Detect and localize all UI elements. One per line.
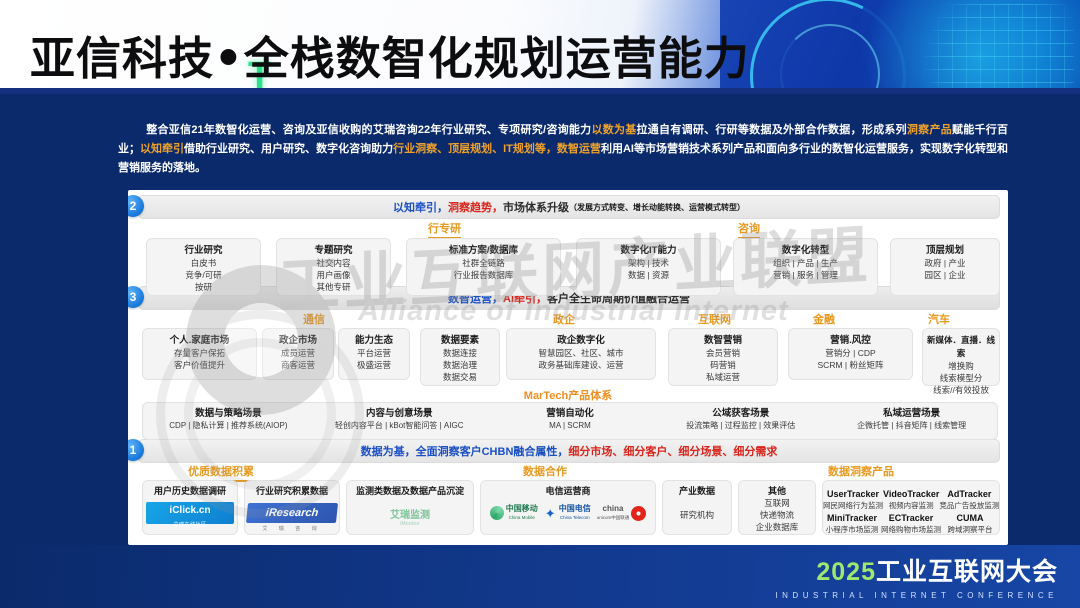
china-mobile-sub: China Mobile (506, 513, 538, 522)
tracker-minitracker[interactable]: MiniTracker 小程序市场监测 (823, 512, 881, 535)
band3-card-3-line-0: 数据连接 (421, 347, 499, 359)
china-telecom-label: 中国电信 China Telecom (559, 504, 591, 522)
tracker-adtracker-name: AdTracker (939, 488, 999, 500)
conference-year: 2025 (816, 558, 876, 586)
page-title: 亚信科技•全栈数智化规划运营能力 (30, 22, 750, 87)
conference-subtitle: INDUSTRIAL INTERNET CONFERENCE (775, 591, 1058, 600)
band3-card-5-line-2: 私域运营 (669, 371, 777, 383)
band1-card-industry-line-0: 研究机构 (663, 509, 731, 521)
tracker-cuma-name: CUMA (941, 512, 999, 524)
tracker-grid: UserTracker 网民网络行为监测 VideoTracker 视频内容监测… (823, 485, 999, 535)
band3-card-6-line-1: SCRM | 粉丝矩阵 (789, 359, 912, 371)
band1-title-red: 细分市场、细分客户、细分场景、细分需求 (568, 443, 777, 459)
tracker-ectracker-desc: 网络购物市场监测 (881, 524, 941, 535)
martech-col-0-sub: CDP | 隐私计算 | 推荐系统(AIOP) (143, 420, 314, 432)
band2-header[interactable]: 以知牵引，洞察趋势，市场体系升级（发展方式转变、增长动能转换、运营模式转型） (138, 195, 1000, 219)
tracker-cuma-desc: 跨域洞察平台 (941, 524, 999, 535)
band2-card-2[interactable]: 标准方案/数据库 社群全链路 行业报告数据库 (406, 238, 561, 296)
band1-card-monitor[interactable]: 监测类数据及数据产品沉淀 艾瑞监测 iMonitor (346, 480, 474, 535)
intro-line2-highlight-2: 以知牵引 (140, 143, 184, 155)
band2-title-dark: 市场体系升级 (503, 199, 569, 215)
band2-card-0[interactable]: 行业研究 白皮书 竞争/可研 按研 (146, 238, 261, 296)
band2-card-1-title: 专题研究 (277, 244, 390, 257)
band2-card-4-line-1: 营销 | 服务 | 管理 (734, 269, 877, 281)
band3-card-0-line-1: 客户价值提升 (143, 359, 256, 371)
band2-card-5-line-0: 政府 | 产业 (891, 257, 999, 269)
band3-card-5-title: 数智营销 (669, 334, 777, 347)
china-telecom-name: 中国电信 (559, 504, 591, 513)
tracker-minitracker-name: MiniTracker (823, 512, 881, 524)
martech-col-1-sub: 轻创内容平台 | kBot智能问答 | AIGC (314, 420, 485, 432)
band3-card-2[interactable]: 能力生态 平台运营 极盛运营 (338, 328, 410, 380)
martech-col-3[interactable]: 公域获客场景 投流策略 | 过程监控 | 效果评估 (655, 403, 826, 439)
china-unicom-name: china (603, 504, 624, 513)
tracker-usertracker[interactable]: UserTracker 网民网络行为监测 (823, 488, 883, 511)
band1-card-other-line-0: 互联网 (739, 497, 815, 509)
intro-line2-highlight-4: 数智运营 (557, 143, 601, 155)
band3-card-1[interactable]: 政企市场 成员运营 商客运营 (262, 328, 334, 380)
tracker-row: UserTracker 网民网络行为监测 VideoTracker 视频内容监测… (823, 488, 999, 511)
martech-col-0[interactable]: 数据与策略场景 CDP | 隐私计算 | 推荐系统(AIOP) (143, 403, 314, 439)
band3-card-4-line-1: 政务基础库建设、运营 (507, 359, 655, 371)
band1-card-other-line-2: 企业数据库 (739, 521, 815, 533)
martech-col-1-title: 内容与创意场景 (314, 407, 485, 420)
tracker-usertracker-name: UserTracker (823, 488, 883, 500)
china-unicom-logo: china unicom中国联通 (597, 504, 647, 522)
band1-card-iclick[interactable]: 用户历史数据调研 iClick.cn 艾瑞在线社区 (142, 480, 238, 535)
band2-card-1-line-1: 用户画像 (277, 269, 390, 281)
imonitor-logo: 艾瑞监测 iMonitor (347, 506, 473, 527)
tracker-adtracker-desc: 竞品广告投放监测 (939, 500, 999, 511)
band3-card-5-line-1: 码营销 (669, 359, 777, 371)
header-circuit-pattern (924, 4, 1074, 94)
telecom-logos: 中国移动 China Mobile ✦ 中国电信 China Telecom c… (481, 504, 655, 522)
band1-card-other-line-1: 快递物流 (739, 509, 815, 521)
iclick-logo: iClick.cn 艾瑞在线社区 (146, 502, 234, 524)
tracker-ectracker[interactable]: ECTracker 网络购物市场监测 (881, 512, 941, 535)
china-mobile-icon (490, 506, 504, 520)
band1-card-industry[interactable]: 产业数据 研究机构 (662, 480, 732, 535)
tracker-row: MiniTracker 小程序市场监测 ECTracker 网络购物市场监测 C… (823, 512, 999, 535)
tracker-usertracker-desc: 网民网络行为监测 (823, 500, 883, 511)
band2-title-blue: 以知牵引， (393, 199, 448, 215)
martech-col-2[interactable]: 营销自动化 MA | SCRM (485, 403, 656, 439)
band3-card-2-title: 能力生态 (339, 334, 409, 347)
band2-card-4-line-0: 组织 | 产品 | 生产 (734, 257, 877, 269)
header-divider (0, 88, 1080, 94)
band2-card-1-line-0: 社交内容 (277, 257, 390, 269)
band3-card-1-line-1: 商客运营 (263, 359, 333, 371)
band2-title-note: （发展方式转变、增长动能转换、运营模式转型） (569, 202, 745, 213)
band3-card-2-line-1: 极盛运营 (339, 359, 409, 371)
china-unicom-sub: unicom中国联通 (597, 513, 630, 522)
band2-title-red: 洞察趋势， (448, 199, 503, 215)
band1-card-other[interactable]: 其他 互联网 快递物流 企业数据库 (738, 480, 816, 535)
china-mobile-label: 中国移动 China Mobile (506, 504, 538, 522)
band3-card-0[interactable]: 个人.家庭市场 存量客户保拓 客户价值提升 (142, 328, 257, 380)
intro-line1-a: 整合亚信21年数智化运营、咨询及亚信收购的艾瑞咨询22年行业研究、专项研究/咨询… (146, 124, 591, 136)
band3-card-1-title: 政企市场 (263, 334, 333, 347)
band3-card-4-title: 政企数字化 (507, 334, 655, 347)
band2-card-3-line-1: 数据 | 资源 (577, 269, 720, 281)
conference-logo-main: 2025工业互联网大会 (775, 552, 1058, 588)
band3-card-0-line-0: 存量客户保拓 (143, 347, 256, 359)
band3-card-5-line-0: 会员营销 (669, 347, 777, 359)
iresearch-logo-sub: 艾 瑞 咨 询 (245, 525, 339, 532)
intro-line2-b: 借助行业研究、用户研究、数字化咨询助力 (184, 143, 393, 155)
band2-card-2-title: 标准方案/数据库 (407, 244, 560, 257)
conference-logo: 2025工业互联网大会 INDUSTRIAL INTERNET CONFEREN… (775, 552, 1058, 600)
band1-card-iresearch-title: 行业研究积累数据 (245, 485, 339, 497)
band3-card-1-line-0: 成员运营 (263, 347, 333, 359)
band2-card-4-title: 数字化转型 (734, 244, 877, 257)
martech-col-3-title: 公域获客场景 (655, 407, 826, 420)
martech-row[interactable]: 数据与策略场景 CDP | 隐私计算 | 推荐系统(AIOP) 内容与创意场景 … (142, 402, 998, 440)
iclick-logo-sub: 艾瑞在线社区 (146, 518, 234, 532)
band1-card-monitor-title: 监测类数据及数据产品沉淀 (347, 485, 473, 497)
band1-header[interactable]: 数据为基，全面洞察客户CHBN融合属性，细分市场、细分客户、细分场景、细分需求 (138, 439, 1000, 463)
martech-col-4[interactable]: 私域运营场景 企微托管 | 抖音矩阵 | 线索管理 (826, 403, 997, 439)
band2-card-1-line-2: 其他专研 (277, 281, 390, 293)
tracker-videotracker-name: VideoTracker (883, 488, 939, 500)
band3-card-7-title: 新媒体．直播．线索 (923, 334, 999, 360)
iresearch-logo: iResearch (246, 503, 338, 523)
band3-card-3-line-1: 数据治理 (421, 359, 499, 371)
band2-card-2-line-0: 社群全链路 (407, 257, 560, 269)
band2-card-2-line-1: 行业报告数据库 (407, 269, 560, 281)
band3-card-3[interactable]: 数据要素 数据连接 数据治理 数据交易 (420, 328, 500, 386)
band2-card-1[interactable]: 专题研究 社交内容 用户画像 其他专研 (276, 238, 391, 296)
intro-line2-c: 利用AI等市场营销技术系列产品和面向多行 (601, 143, 810, 155)
intro-line1-b: 拉通自有调研、行研等数据及外部合作数据，形成系列 (637, 124, 907, 136)
china-unicom-label: china unicom中国联通 (597, 504, 630, 522)
band3-card-5[interactable]: 数智营销 会员营销 码营销 私域运营 (668, 328, 778, 386)
conference-name: 工业互联网大会 (876, 558, 1058, 586)
band3-card-7[interactable]: 新媒体．直播．线索 增换购 线索模型分 线索//有效投放 (922, 328, 1000, 386)
tracker-videotracker-desc: 视频内容监测 (883, 500, 939, 511)
intro-line2-highlight-3: 行业洞察、顶层规划、IT规划等， (393, 143, 557, 155)
band2-card-5-title: 顶层规划 (891, 244, 999, 257)
band2-card-0-line-0: 白皮书 (147, 257, 260, 269)
martech-col-2-sub: MA | SCRM (485, 420, 656, 432)
martech-title: MarTech产品体系 (128, 387, 1008, 403)
band3-card-7-line-1: 线索模型分 (923, 372, 999, 384)
band2-card-4[interactable]: 数字化转型 组织 | 产品 | 生产 营销 | 服务 | 管理 (733, 238, 878, 296)
intro-line2-highlight-1: 洞察产品 (907, 124, 952, 136)
band1-title-blue: 数据为基，全面洞察客户CHBN融合属性， (361, 443, 569, 459)
iclick-logo-main: iClick.cn (169, 505, 210, 516)
china-mobile-name: 中国移动 (506, 504, 538, 513)
tracker-cuma[interactable]: CUMA 跨域洞察平台 (941, 512, 999, 535)
band1-card-iclick-title: 用户历史数据调研 (143, 485, 237, 497)
martech-col-4-title: 私域运营场景 (826, 407, 997, 420)
martech-col-2-title: 营销自动化 (485, 407, 656, 420)
martech-col-4-sub: 企微托管 | 抖音矩阵 | 线索管理 (826, 420, 997, 432)
band2-card-0-line-2: 按研 (147, 281, 260, 293)
china-unicom-icon (631, 506, 646, 521)
martech-col-0-title: 数据与策略场景 (143, 407, 314, 420)
china-telecom-icon: ✦ (544, 507, 557, 520)
page-footer: 2025工业互联网大会 INDUSTRIAL INTERNET CONFEREN… (0, 545, 1080, 608)
band3-card-6-line-0: 营销分 | CDP (789, 347, 912, 359)
band1-card-industry-title: 产业数据 (663, 485, 731, 497)
tracker-minitracker-desc: 小程序市场监测 (823, 524, 881, 535)
band3-card-0-title: 个人.家庭市场 (143, 334, 256, 347)
band2-card-3-title: 数字化IT能力 (577, 244, 720, 257)
band2-card-3-line-0: 架构 | 技术 (577, 257, 720, 269)
band3-card-7-line-0: 增换购 (923, 360, 999, 372)
tracker-adtracker[interactable]: AdTracker 竞品广告投放监测 (939, 488, 999, 511)
band2-section-label-1: 咨询 (738, 220, 760, 239)
capability-panel: 工业互联网产业联盟 Alliance of Industrial Interne… (128, 190, 1008, 545)
china-mobile-logo: 中国移动 China Mobile (490, 504, 538, 522)
band1-card-trackers[interactable]: UserTracker 网民网络行为监测 VideoTracker 视频内容监测… (822, 480, 1000, 535)
band3-card-3-title: 数据要素 (421, 334, 499, 347)
martech-col-3-sub: 投流策略 | 过程监控 | 效果评估 (655, 420, 826, 432)
band3-card-6-title: 营销.风控 (789, 334, 912, 347)
band2-card-5-line-1: 园区 | 企业 (891, 269, 999, 281)
band1-card-iresearch[interactable]: 行业研究积累数据 iResearch 艾 瑞 咨 询 (244, 480, 340, 535)
tracker-ectracker-name: ECTracker (881, 512, 941, 524)
band2-card-0-line-1: 竞争/可研 (147, 269, 260, 281)
band3-card-4-line-0: 智慧园区、社区、城市 (507, 347, 655, 359)
band2-section-label-0: 行专研 (428, 220, 461, 239)
page-header: T 亚信科技•全栈数智化规划运营能力 (0, 0, 1080, 94)
imonitor-logo-main: 艾瑞监测 (390, 510, 430, 521)
band3-card-4[interactable]: 政企数字化 智慧园区、社区、城市 政务基础库建设、运营 (506, 328, 656, 380)
band3-card-6[interactable]: 营销.风控 营销分 | CDP SCRM | 粉丝矩阵 (788, 328, 913, 380)
band2-card-3[interactable]: 数字化IT能力 架构 | 技术 数据 | 资源 (576, 238, 721, 296)
intro-line1-highlight: 以数为基 (591, 124, 636, 136)
band3-card-3-line-2: 数据交易 (421, 371, 499, 383)
china-telecom-logo: ✦ 中国电信 China Telecom (544, 504, 591, 522)
band1-card-other-title: 其他 (739, 485, 815, 497)
band1-card-telecom[interactable]: 电信运营商 中国移动 China Mobile ✦ 中国电信 China Tel… (480, 480, 656, 535)
band1-card-telecom-title: 电信运营商 (481, 485, 655, 497)
band3-card-2-line-0: 平台运营 (339, 347, 409, 359)
band2-card-5[interactable]: 顶层规划 政府 | 产业 园区 | 企业 (890, 238, 1000, 296)
intro-paragraph: 整合亚信21年数智化运营、咨询及亚信收购的艾瑞咨询22年行业研究、专项研究/咨询… (118, 121, 1008, 178)
china-telecom-sub: China Telecom (559, 513, 591, 522)
martech-col-1[interactable]: 内容与创意场景 轻创内容平台 | kBot智能问答 | AIGC (314, 403, 485, 439)
tracker-videotracker[interactable]: VideoTracker 视频内容监测 (883, 488, 939, 511)
imonitor-logo-sub: iMonitor (347, 521, 473, 527)
band2-card-0-title: 行业研究 (147, 244, 260, 257)
